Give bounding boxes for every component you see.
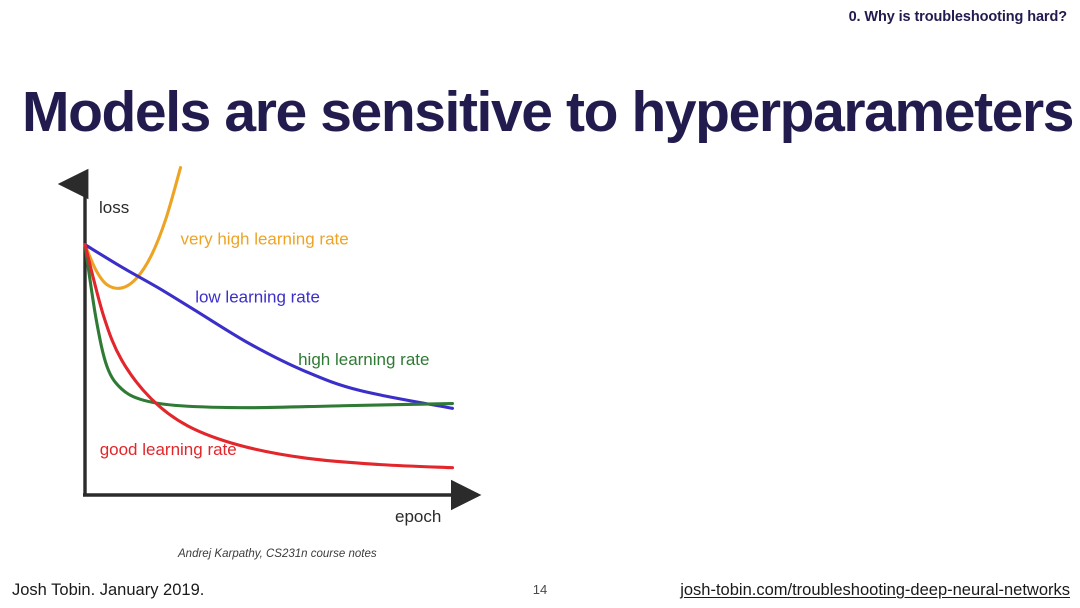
footer-link[interactable]: josh-tobin.com/troubleshooting-deep-neur… <box>680 581 1070 600</box>
label-high-learning-rate: high learning rate <box>298 350 429 369</box>
curve-low-learning-rate <box>85 245 452 409</box>
slide: 0. Why is troubleshooting hard? Models a… <box>0 0 1080 608</box>
figure-caption: Andrej Karpathy, CS231n course notes <box>178 548 377 560</box>
page-title: Models are sensitive to hyperparameters <box>22 82 1066 144</box>
label-very-high-learning-rate: very high learning rate <box>181 230 349 249</box>
y-axis-label: loss <box>99 198 129 217</box>
curve-high-learning-rate <box>85 245 452 408</box>
learning-rate-chart: loss epoch very high learning rate low l… <box>60 150 530 570</box>
label-good-learning-rate: good learning rate <box>100 440 237 459</box>
x-axis-label: epoch <box>395 507 441 526</box>
curve-very-high-learning-rate <box>85 168 181 289</box>
label-low-learning-rate: low learning rate <box>195 287 320 306</box>
section-eyebrow: 0. Why is troubleshooting hard? <box>849 9 1067 25</box>
